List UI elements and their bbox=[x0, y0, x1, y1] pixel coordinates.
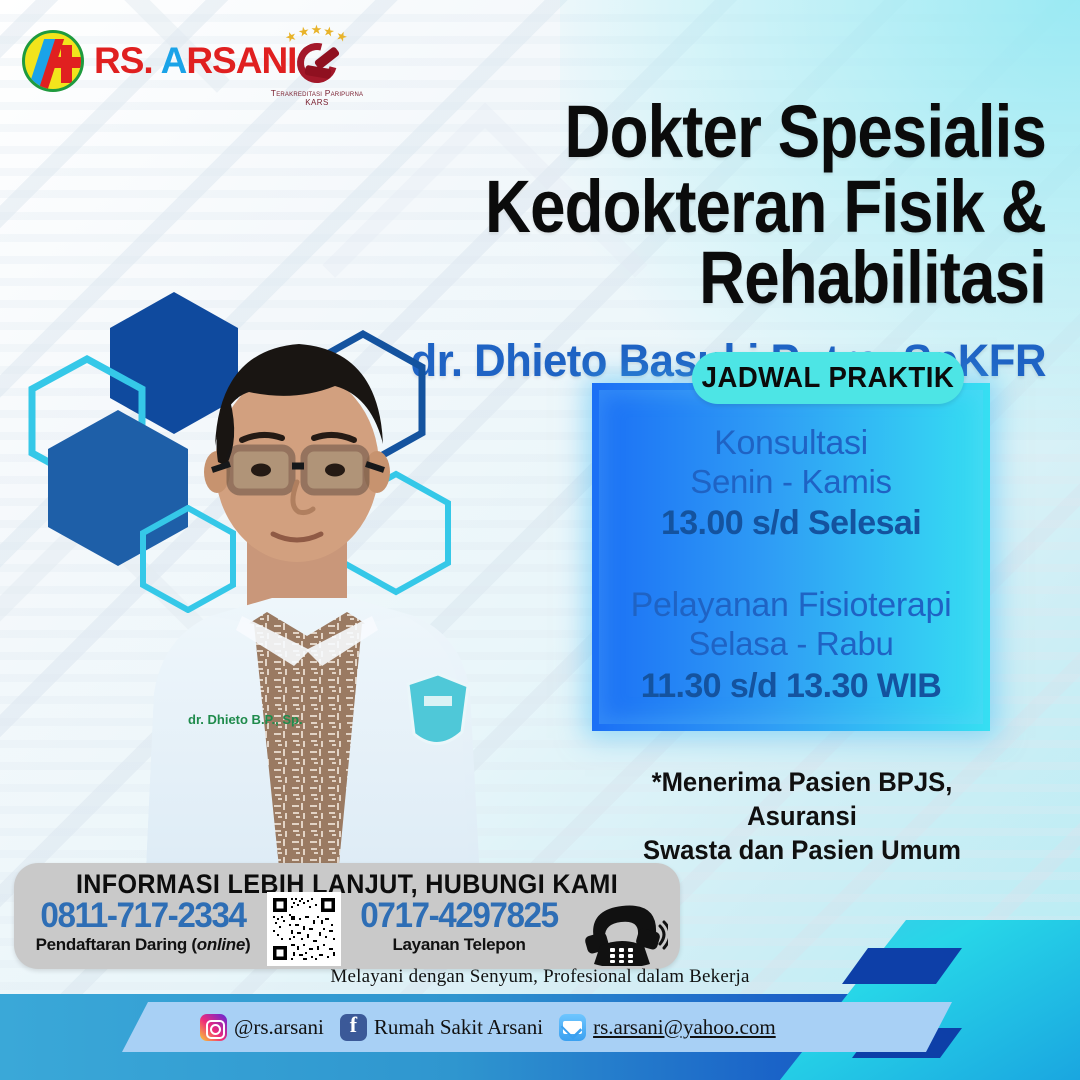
poster-canvas: RS. ARSANI ★★★★★ Terakreditasi Paripurna… bbox=[0, 0, 1080, 1080]
social-instagram[interactable]: @rs.arsani bbox=[200, 1014, 324, 1041]
insurance-note: *Menerima Pasien BPJS, Asuransi Swasta d… bbox=[603, 766, 1002, 867]
headline-line-1: Dokter Spesialis bbox=[246, 96, 1046, 167]
facebook-icon bbox=[340, 1014, 367, 1041]
email-icon bbox=[559, 1014, 586, 1041]
contact-online-registration[interactable]: 0811-717-2334 Pendaftaran Daring (online… bbox=[28, 898, 258, 955]
telephone-caption: Layanan Telepon bbox=[344, 935, 574, 955]
online-caption-italic: online bbox=[197, 935, 245, 954]
online-caption-pre: Pendaftaran Daring ( bbox=[36, 935, 197, 954]
social-email[interactable]: rs.arsani@yahoo.com bbox=[559, 1014, 776, 1041]
contact-telephone[interactable]: 0717-4297825 Layanan Telepon bbox=[344, 898, 574, 955]
qr-code-icon[interactable] bbox=[267, 892, 341, 966]
online-caption: Pendaftaran Daring (online) bbox=[28, 935, 258, 955]
kars-accreditation-badge: ★★★★★ Terakreditasi Paripurna KARS bbox=[258, 26, 376, 107]
headline-line-2: Kedokteran Fisik & Rehabilitasi bbox=[246, 171, 1046, 313]
email-address[interactable]: rs.arsani@yahoo.com bbox=[593, 1015, 776, 1040]
facebook-page-name[interactable]: Rumah Sakit Arsani bbox=[374, 1015, 543, 1040]
schedule-service-1: Pelayanan Fisioterapi bbox=[592, 586, 990, 625]
schedule-time-1: 11.30 s/d 13.30 WIB bbox=[592, 666, 990, 707]
schedule-block-consultation: Konsultasi Senin - Kamis 13.00 s/d Seles… bbox=[592, 424, 990, 545]
logo-text-a: A bbox=[161, 40, 187, 81]
kars-seal-icon bbox=[288, 41, 346, 87]
instagram-handle[interactable]: @rs.arsani bbox=[234, 1015, 324, 1040]
online-caption-post: ) bbox=[245, 935, 250, 954]
kars-stars-icon: ★★★★★ bbox=[258, 26, 376, 40]
insurance-note-line1: *Menerima Pasien BPJS, Asuransi bbox=[603, 766, 1002, 834]
contact-row: 0811-717-2334 Pendaftaran Daring (online… bbox=[14, 900, 680, 966]
insurance-note-line2: Swasta dan Pasien Umum bbox=[603, 834, 1002, 868]
telephone-number[interactable]: 0717-4297825 bbox=[350, 898, 569, 935]
logo-text-prefix: RS. bbox=[94, 40, 161, 81]
schedule-block-physiotherapy: Pelayanan Fisioterapi Selasa - Rabu 11.3… bbox=[592, 586, 990, 707]
hospital-cross-logo-icon bbox=[22, 30, 84, 92]
social-facebook[interactable]: Rumah Sakit Arsani bbox=[340, 1014, 543, 1041]
doctor-portrait-photo: dr. Dhieto B.P., Sp. bbox=[92, 316, 522, 916]
schedule-days-0: Senin - Kamis bbox=[592, 463, 990, 501]
contact-bar: INFORMASI LEBIH LANJUT, HUBUNGI KAMI 081… bbox=[14, 863, 680, 969]
schedule-content: Konsultasi Senin - Kamis 13.00 s/d Seles… bbox=[592, 400, 990, 730]
social-links-bar: @rs.arsani Rumah Sakit Arsani rs.arsani@… bbox=[122, 1002, 952, 1052]
schedule-time-0: 13.00 s/d Selesai bbox=[592, 503, 990, 544]
hospital-logo: RS. ARSANI bbox=[22, 30, 296, 92]
svg-text:dr. Dhieto B.P., Sp.: dr. Dhieto B.P., Sp. bbox=[188, 712, 303, 727]
schedule-badge: JADWAL PRAKTIK bbox=[692, 352, 964, 404]
online-phone-number[interactable]: 0811-717-2334 bbox=[34, 898, 253, 935]
telephone-icon bbox=[576, 890, 668, 966]
schedule-days-1: Selasa - Rabu bbox=[592, 625, 990, 663]
instagram-icon bbox=[200, 1014, 227, 1041]
schedule-badge-label: JADWAL PRAKTIK bbox=[702, 362, 955, 395]
schedule-service-0: Konsultasi bbox=[592, 424, 990, 463]
